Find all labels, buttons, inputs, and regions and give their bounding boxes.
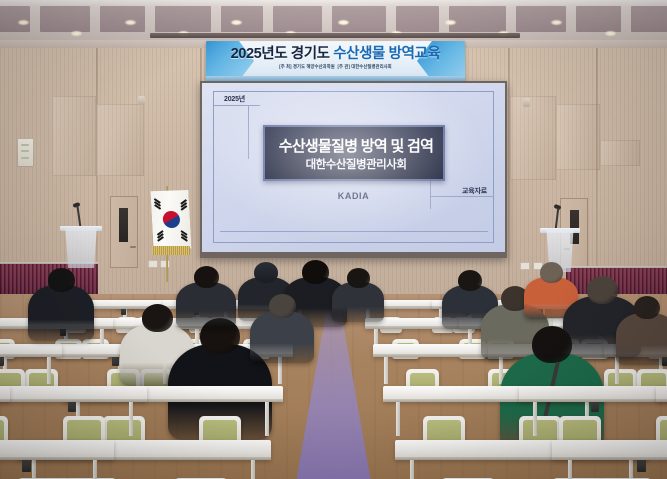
desk-leg: [384, 357, 388, 384]
wall-panel: [96, 104, 144, 176]
desk: [0, 386, 10, 402]
kadia-logo: KADIA: [202, 191, 505, 201]
desk-hook: [0, 356, 4, 366]
person-torso: [176, 282, 236, 328]
ceiling-panel: [273, 6, 322, 32]
desk-leg: [32, 460, 36, 479]
desk-edge: [656, 399, 667, 402]
person-head: [302, 260, 329, 284]
person-head-with-cap: [254, 262, 278, 283]
person-torso: [332, 282, 384, 322]
banner-title-part1: 2025년도 경기도: [231, 46, 334, 62]
desk: [656, 386, 667, 402]
desk-leg: [251, 460, 255, 479]
slide-title-box: 수산생물질병 방역 및 검역 대한수산질병관리사회: [263, 125, 445, 181]
person-head: [194, 266, 219, 288]
ceiling-panel: [576, 6, 621, 32]
projection-screen: 2025년 교육자료 수산생물질병 방역 및 검역 대한수산질병관리사회 KAD…: [202, 83, 505, 252]
desk: [0, 440, 114, 460]
desk-hook: [22, 459, 31, 472]
slide-subtitle: 대한수산질병관리사회: [265, 160, 447, 172]
desk-hook: [637, 459, 646, 472]
desk-leg: [533, 402, 537, 436]
person-head: [540, 262, 563, 283]
person-torso: [28, 285, 94, 341]
projection-screen-frame: 2025년 교육자료 수산생물질병 방역 및 검역 대한수산질병관리사회 KAD…: [200, 81, 507, 258]
banner-title-highlight: 수산생물 방역교육: [333, 46, 440, 62]
wall-speaker: [523, 98, 530, 107]
ceiling-downlight: [338, 20, 349, 25]
panel-indicator: [21, 150, 29, 152]
ceiling-downlight: [71, 31, 82, 36]
panel-indicator: [21, 157, 29, 159]
person-head: [634, 296, 660, 319]
audience-member: [332, 268, 384, 328]
south-korea-flag: [150, 190, 191, 252]
desk-leg: [396, 402, 400, 436]
desk-edge: [0, 354, 62, 357]
desk-hook: [591, 401, 599, 412]
slide-year-label: 2025년: [224, 94, 245, 104]
door-handle[interactable]: [130, 246, 136, 248]
desk-leg: [629, 460, 633, 479]
slide-title: 수산생물질병 방역 및 검역: [265, 139, 447, 154]
desk-leg: [568, 460, 572, 479]
event-banner: 2025년도 경기도 수산생물 방역교육 [주 최] 경기도 해양수산과학원 […: [206, 41, 465, 81]
ceiling-downlight: [445, 20, 456, 25]
person-head: [458, 270, 482, 291]
desk-edge: [0, 399, 147, 402]
person-torso: [616, 313, 667, 365]
audience-member: [616, 296, 667, 371]
person-head: [269, 294, 296, 318]
desk: [552, 440, 667, 460]
kadia-logo-text: KADIA: [338, 191, 370, 201]
person-head: [532, 326, 572, 363]
banner-subtitle: [주 최] 경기도 해양수산과학원 [주 관] 대한수산질병관리사회: [206, 65, 465, 69]
ceiling-panel: [516, 6, 566, 32]
seminar-room-photo: 2025년도 경기도 수산생물 방역교육 [주 최] 경기도 해양수산과학원 […: [0, 0, 667, 479]
desk-leg: [129, 402, 133, 436]
wall-panel: [52, 96, 96, 176]
ceiling-panel: [449, 6, 506, 32]
person-head: [347, 268, 370, 288]
desk: [519, 386, 667, 402]
wall-outlet[interactable]: [148, 260, 158, 268]
desk-edge: [0, 399, 10, 402]
slide-rule: [214, 105, 260, 106]
banner-subtitle-right: [주 관] 대한수산질병관리사회: [337, 64, 391, 69]
ceiling-panel: [100, 6, 145, 32]
audience-member: [28, 268, 94, 348]
ceiling-panel: [332, 6, 386, 32]
ceiling-panel: [631, 6, 667, 32]
taeguk-circle-icon: [162, 211, 180, 228]
desk-hook: [112, 356, 119, 366]
wall-panel: [556, 104, 600, 170]
wall-panel: [510, 96, 556, 180]
desk-leg: [93, 460, 97, 479]
person-torso: [250, 311, 314, 363]
person-head: [48, 268, 75, 292]
banner-title: 2025년도 경기도 수산생물 방역교육: [206, 47, 465, 61]
wall-control-panel[interactable]: [17, 138, 34, 167]
person-head: [587, 276, 618, 304]
door-window: [119, 208, 128, 242]
ceiling-downlight: [605, 31, 616, 36]
ceiling-panel: [221, 6, 263, 32]
audience-member: [250, 294, 314, 370]
ceiling-beam: [150, 33, 520, 38]
desk-leg: [265, 402, 269, 436]
desk-hook: [68, 401, 76, 412]
left-podium: [63, 228, 99, 268]
door-left[interactable]: [110, 196, 138, 268]
flag-fringe: [152, 246, 191, 255]
ceiling-panel: [40, 6, 90, 32]
ceiling-panel: [0, 6, 30, 32]
wall-panel: [600, 140, 640, 166]
wall-seam: [596, 48, 598, 300]
desk: [0, 386, 147, 402]
audience-member: [176, 266, 236, 334]
desk-leg: [410, 460, 414, 479]
ceiling-downlight: [18, 20, 29, 25]
slide-rule: [248, 105, 249, 159]
panel-indicator: [21, 144, 29, 146]
slide-rule: [220, 231, 488, 232]
ceiling-downlight: [125, 20, 136, 25]
desk-leg: [47, 357, 51, 384]
ceiling-panel: [396, 6, 439, 32]
wall-speaker: [138, 96, 145, 105]
ceiling-panel: [155, 6, 211, 32]
desk-edge: [519, 399, 667, 402]
banner-subtitle-left: [주 최] 경기도 해양수산과학원: [279, 64, 335, 69]
wall-outlet[interactable]: [160, 260, 170, 268]
